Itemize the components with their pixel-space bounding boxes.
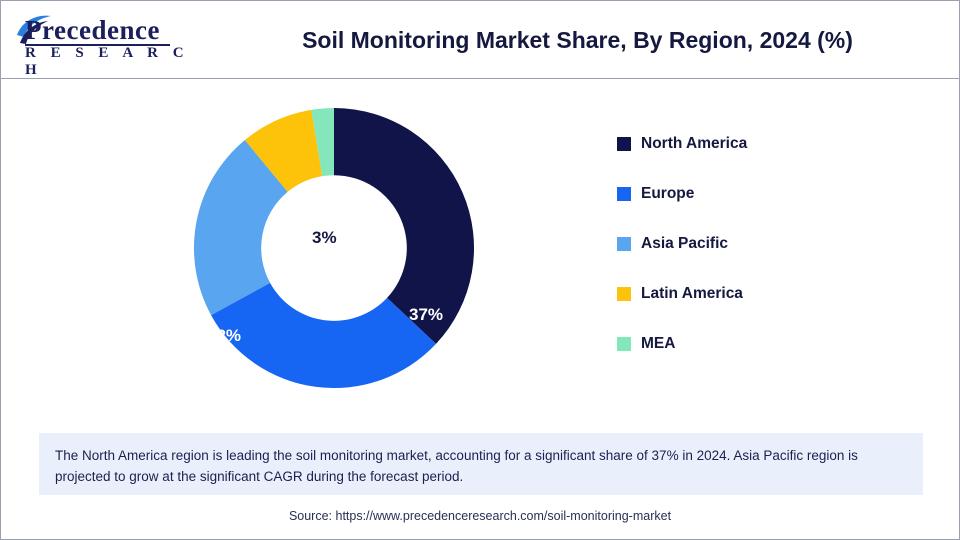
legend-label: Latin America [641, 285, 743, 303]
slice-north-america[interactable] [334, 108, 474, 344]
legend-swatch-icon [617, 237, 631, 251]
insight-note: The North America region is leading the … [39, 433, 923, 495]
legend-item-europe[interactable]: Europe [617, 169, 917, 219]
brand-logo: Precedence R E S E A R C H [15, 15, 195, 67]
page-title: Soil Monitoring Market Share, By Region,… [206, 27, 949, 54]
brand-name-secondary: R E S E A R C H [25, 45, 195, 79]
donut-chart: 37% 30% 22% 8% 3% [179, 93, 499, 403]
legend-swatch-icon [617, 187, 631, 201]
legend-label: MEA [641, 335, 675, 353]
legend-item-latin-america[interactable]: Latin America [617, 269, 917, 319]
legend-swatch-icon [617, 337, 631, 351]
slice-label-mea: 3% [312, 228, 337, 248]
slice-label-north-america: 37% [409, 305, 443, 325]
legend-label: Asia Pacific [641, 235, 728, 253]
slice-label-asia-pacific: 22% [207, 326, 241, 346]
legend-item-asia-pacific[interactable]: Asia Pacific [617, 219, 917, 269]
legend-swatch-icon [617, 287, 631, 301]
source-text: Source: https://www.precedenceresearch.c… [1, 509, 959, 523]
brand-name-primary: Precedence [25, 15, 160, 45]
legend-item-mea[interactable]: MEA [617, 319, 917, 369]
legend-item-north-america[interactable]: North America [617, 119, 917, 169]
chart-area: 37% 30% 22% 8% 3% North America Europe A… [1, 79, 959, 419]
page-root: Precedence R E S E A R C H Soil Monitori… [0, 0, 960, 540]
donut-svg [179, 93, 499, 403]
legend-label: North America [641, 135, 747, 153]
legend-swatch-icon [617, 137, 631, 151]
insight-note-text: The North America region is leading the … [55, 445, 907, 487]
slice-label-latin-america: 8% [271, 239, 296, 259]
header: Precedence R E S E A R C H Soil Monitori… [1, 1, 959, 79]
legend-label: Europe [641, 185, 694, 203]
legend: North America Europe Asia Pacific Latin … [617, 119, 917, 369]
